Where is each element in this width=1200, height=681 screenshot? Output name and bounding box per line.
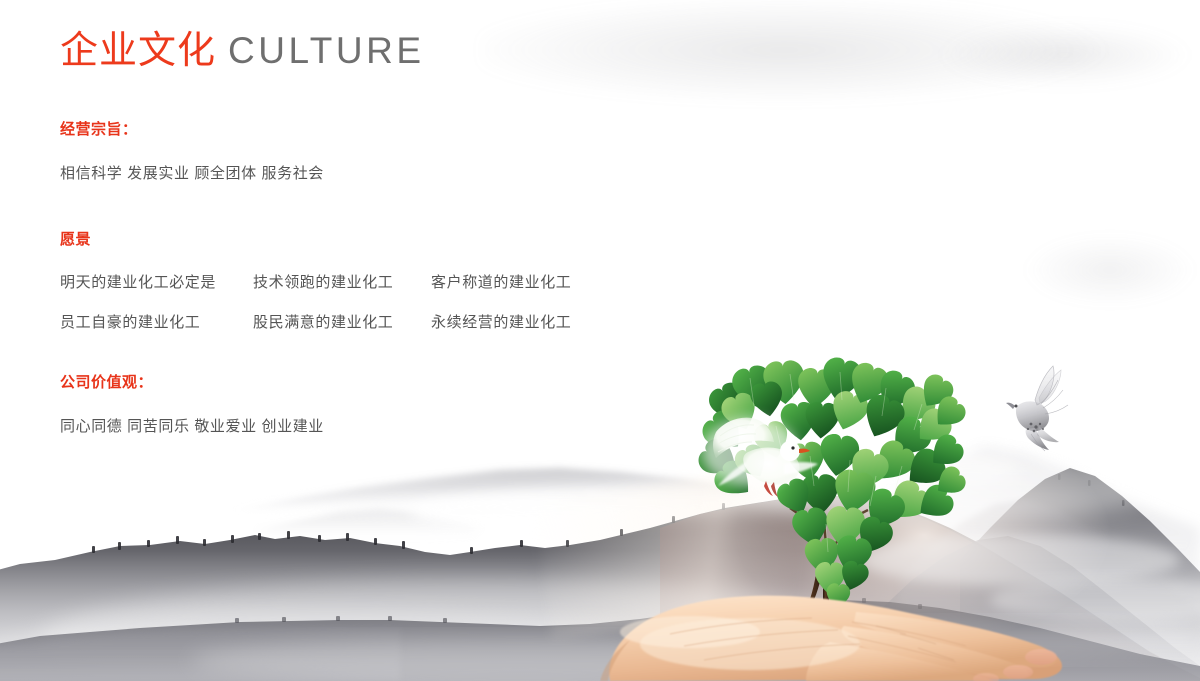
vision-cell: 技术领跑的建业化工 bbox=[253, 271, 393, 292]
section-heading-vision: 愿景 bbox=[60, 228, 91, 249]
vision-row: 员工自豪的建业化工 股民满意的建业化工 永续经营的建业化工 bbox=[60, 311, 91, 351]
section-core-values: 公司价值观： 同心同德 同苦同乐 敬业爱业 创业建业 bbox=[60, 371, 324, 436]
vision-cell: 明天的建业化工必定是 bbox=[60, 271, 216, 292]
page-title-cn: 企业文化 bbox=[60, 30, 216, 72]
section-business-purpose: 经营宗旨： 相信科学 发展实业 顾全团体 服务社会 bbox=[60, 118, 324, 183]
page-title: 企业文化CULTURE bbox=[60, 32, 425, 70]
page-title-en: CULTURE bbox=[228, 30, 425, 71]
vision-row: 明天的建业化工必定是 技术领跑的建业化工 客户称道的建业化工 bbox=[60, 271, 91, 311]
vision-cell: 员工自豪的建业化工 bbox=[60, 311, 200, 332]
section-text-values: 同心同德 同苦同乐 敬业爱业 创业建业 bbox=[60, 415, 324, 436]
section-vision: 愿景 明天的建业化工必定是 技术领跑的建业化工 客户称道的建业化工 员工自豪的建… bbox=[60, 228, 91, 351]
section-text-purpose: 相信科学 发展实业 顾全团体 服务社会 bbox=[60, 162, 324, 183]
section-heading-values: 公司价值观： bbox=[60, 371, 324, 392]
vision-grid: 明天的建业化工必定是 技术领跑的建业化工 客户称道的建业化工 员工自豪的建业化工… bbox=[60, 271, 91, 351]
vision-cell: 股民满意的建业化工 bbox=[253, 311, 393, 332]
vision-cell: 永续经营的建业化工 bbox=[431, 311, 571, 332]
vision-cell: 客户称道的建业化工 bbox=[431, 271, 571, 292]
slide-canvas: 企业文化CULTURE 经营宗旨： 相信科学 发展实业 顾全团体 服务社会 愿景… bbox=[0, 0, 1200, 681]
section-heading-purpose: 经营宗旨： bbox=[60, 118, 324, 139]
